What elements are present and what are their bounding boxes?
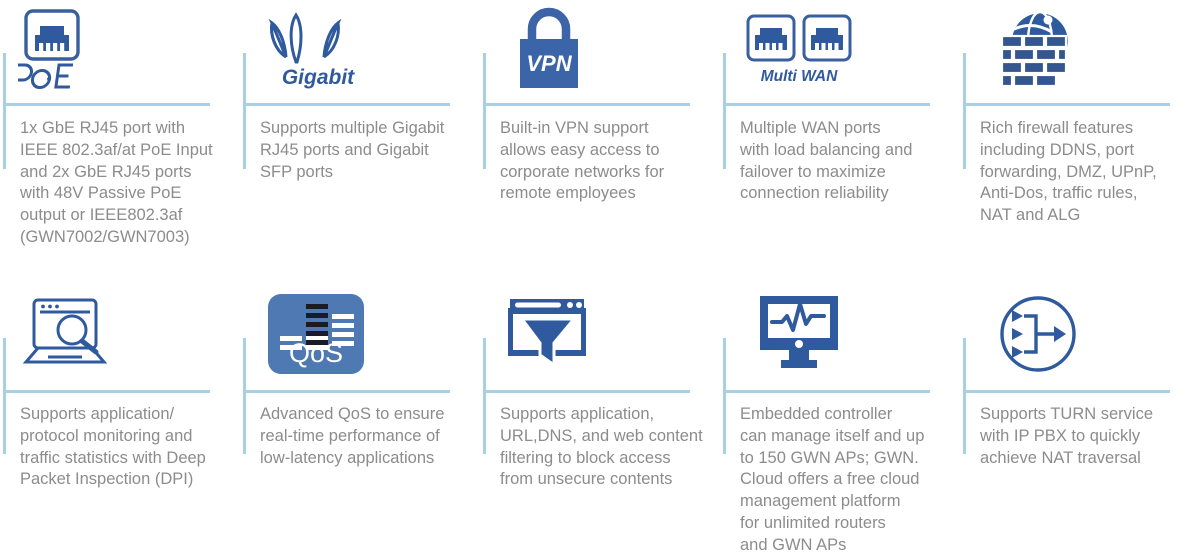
poe-icon [18,8,86,92]
feature-card-gigabit: Gigabit Supports multiple Gigabit RJ45 p… [240,0,480,280]
horizontal-divider [723,103,930,106]
icon-area: QoS [240,280,480,388]
feature-description: Supports application, URL,DNS, and web c… [500,404,708,491]
icon-area [960,280,1200,388]
feature-card-qos: QoS Advanced QoS to ensure real-time per… [240,280,480,544]
feature-description: Rich firewall features including DDNS, p… [980,118,1188,227]
icon-area [720,280,960,388]
gigabit-icon: Gigabit [258,10,370,90]
feature-grid: 1x GbE RJ45 port with IEEE 802.3af/at Po… [0,0,1200,544]
icon-area: Gigabit [240,0,480,100]
browser-funnel-icon [508,297,586,371]
vpn-wordmark: VPN [520,39,578,88]
horizontal-divider [483,390,690,393]
monitor-pulse-icon [756,294,842,374]
horizontal-divider [963,390,1170,393]
feature-description: Supports multiple Gigabit RJ45 ports and… [260,118,468,183]
feature-card-turn: Supports TURN service with IP PBX to qui… [960,280,1200,544]
feature-description: Built-in VPN support allows easy access … [500,118,708,205]
qos-equalizer-icon: QoS [268,294,364,374]
feature-description: Multiple WAN ports with load balancing a… [740,118,948,205]
vpn-lock-icon: VPN [510,5,588,95]
icon-area [960,0,1200,100]
feature-description: Embedded controller can manage itself an… [740,404,948,556]
gigabit-icon-glyph [266,10,370,68]
feature-description: Supports TURN service with IP PBX to qui… [980,404,1188,469]
horizontal-divider [723,390,930,393]
horizontal-divider [3,390,210,393]
icon-area [480,280,720,388]
gigabit-wordmark: Gigabit [282,66,354,90]
feature-description: 1x GbE RJ45 port with IEEE 802.3af/at Po… [20,118,228,249]
feature-card-multi-wan: Multi WAN Multiple WAN ports with load b… [720,0,960,280]
icon-area: Multi WAN [720,0,960,100]
feature-card-firewall: Rich firewall features including DDNS, p… [960,0,1200,280]
horizontal-divider [3,103,210,106]
horizontal-divider [963,103,1170,106]
multi-wan-icon: Multi WAN [746,14,852,86]
multi-wan-wordmark: Multi WAN [761,68,838,86]
horizontal-divider [483,103,690,106]
horizontal-divider [243,103,450,106]
poe-icon-glyph [18,8,86,92]
firewall-globe-icon [996,8,1088,92]
laptop-magnifier-icon [20,296,114,372]
feature-card-dpi: Supports application/ protocol monitorin… [0,280,240,544]
icon-area [0,0,240,100]
feature-card-poe: 1x GbE RJ45 port with IEEE 802.3af/at Po… [0,0,240,280]
feature-card-embedded-controller: Embedded controller can manage itself an… [720,280,960,544]
icon-area [0,280,240,388]
icon-area: VPN [480,0,720,100]
horizontal-divider [243,390,450,393]
feature-card-content-filtering: Supports application, URL,DNS, and web c… [480,280,720,544]
qos-wordmark: QoS [268,338,364,369]
feature-card-vpn: VPN Built-in VPN support allows easy acc… [480,0,720,280]
multi-wan-icon-glyph [746,14,852,66]
feature-description: Supports application/ protocol monitorin… [20,404,228,491]
nat-traversal-icon [998,294,1078,374]
feature-description: Advanced QoS to ensure real-time perform… [260,404,468,469]
